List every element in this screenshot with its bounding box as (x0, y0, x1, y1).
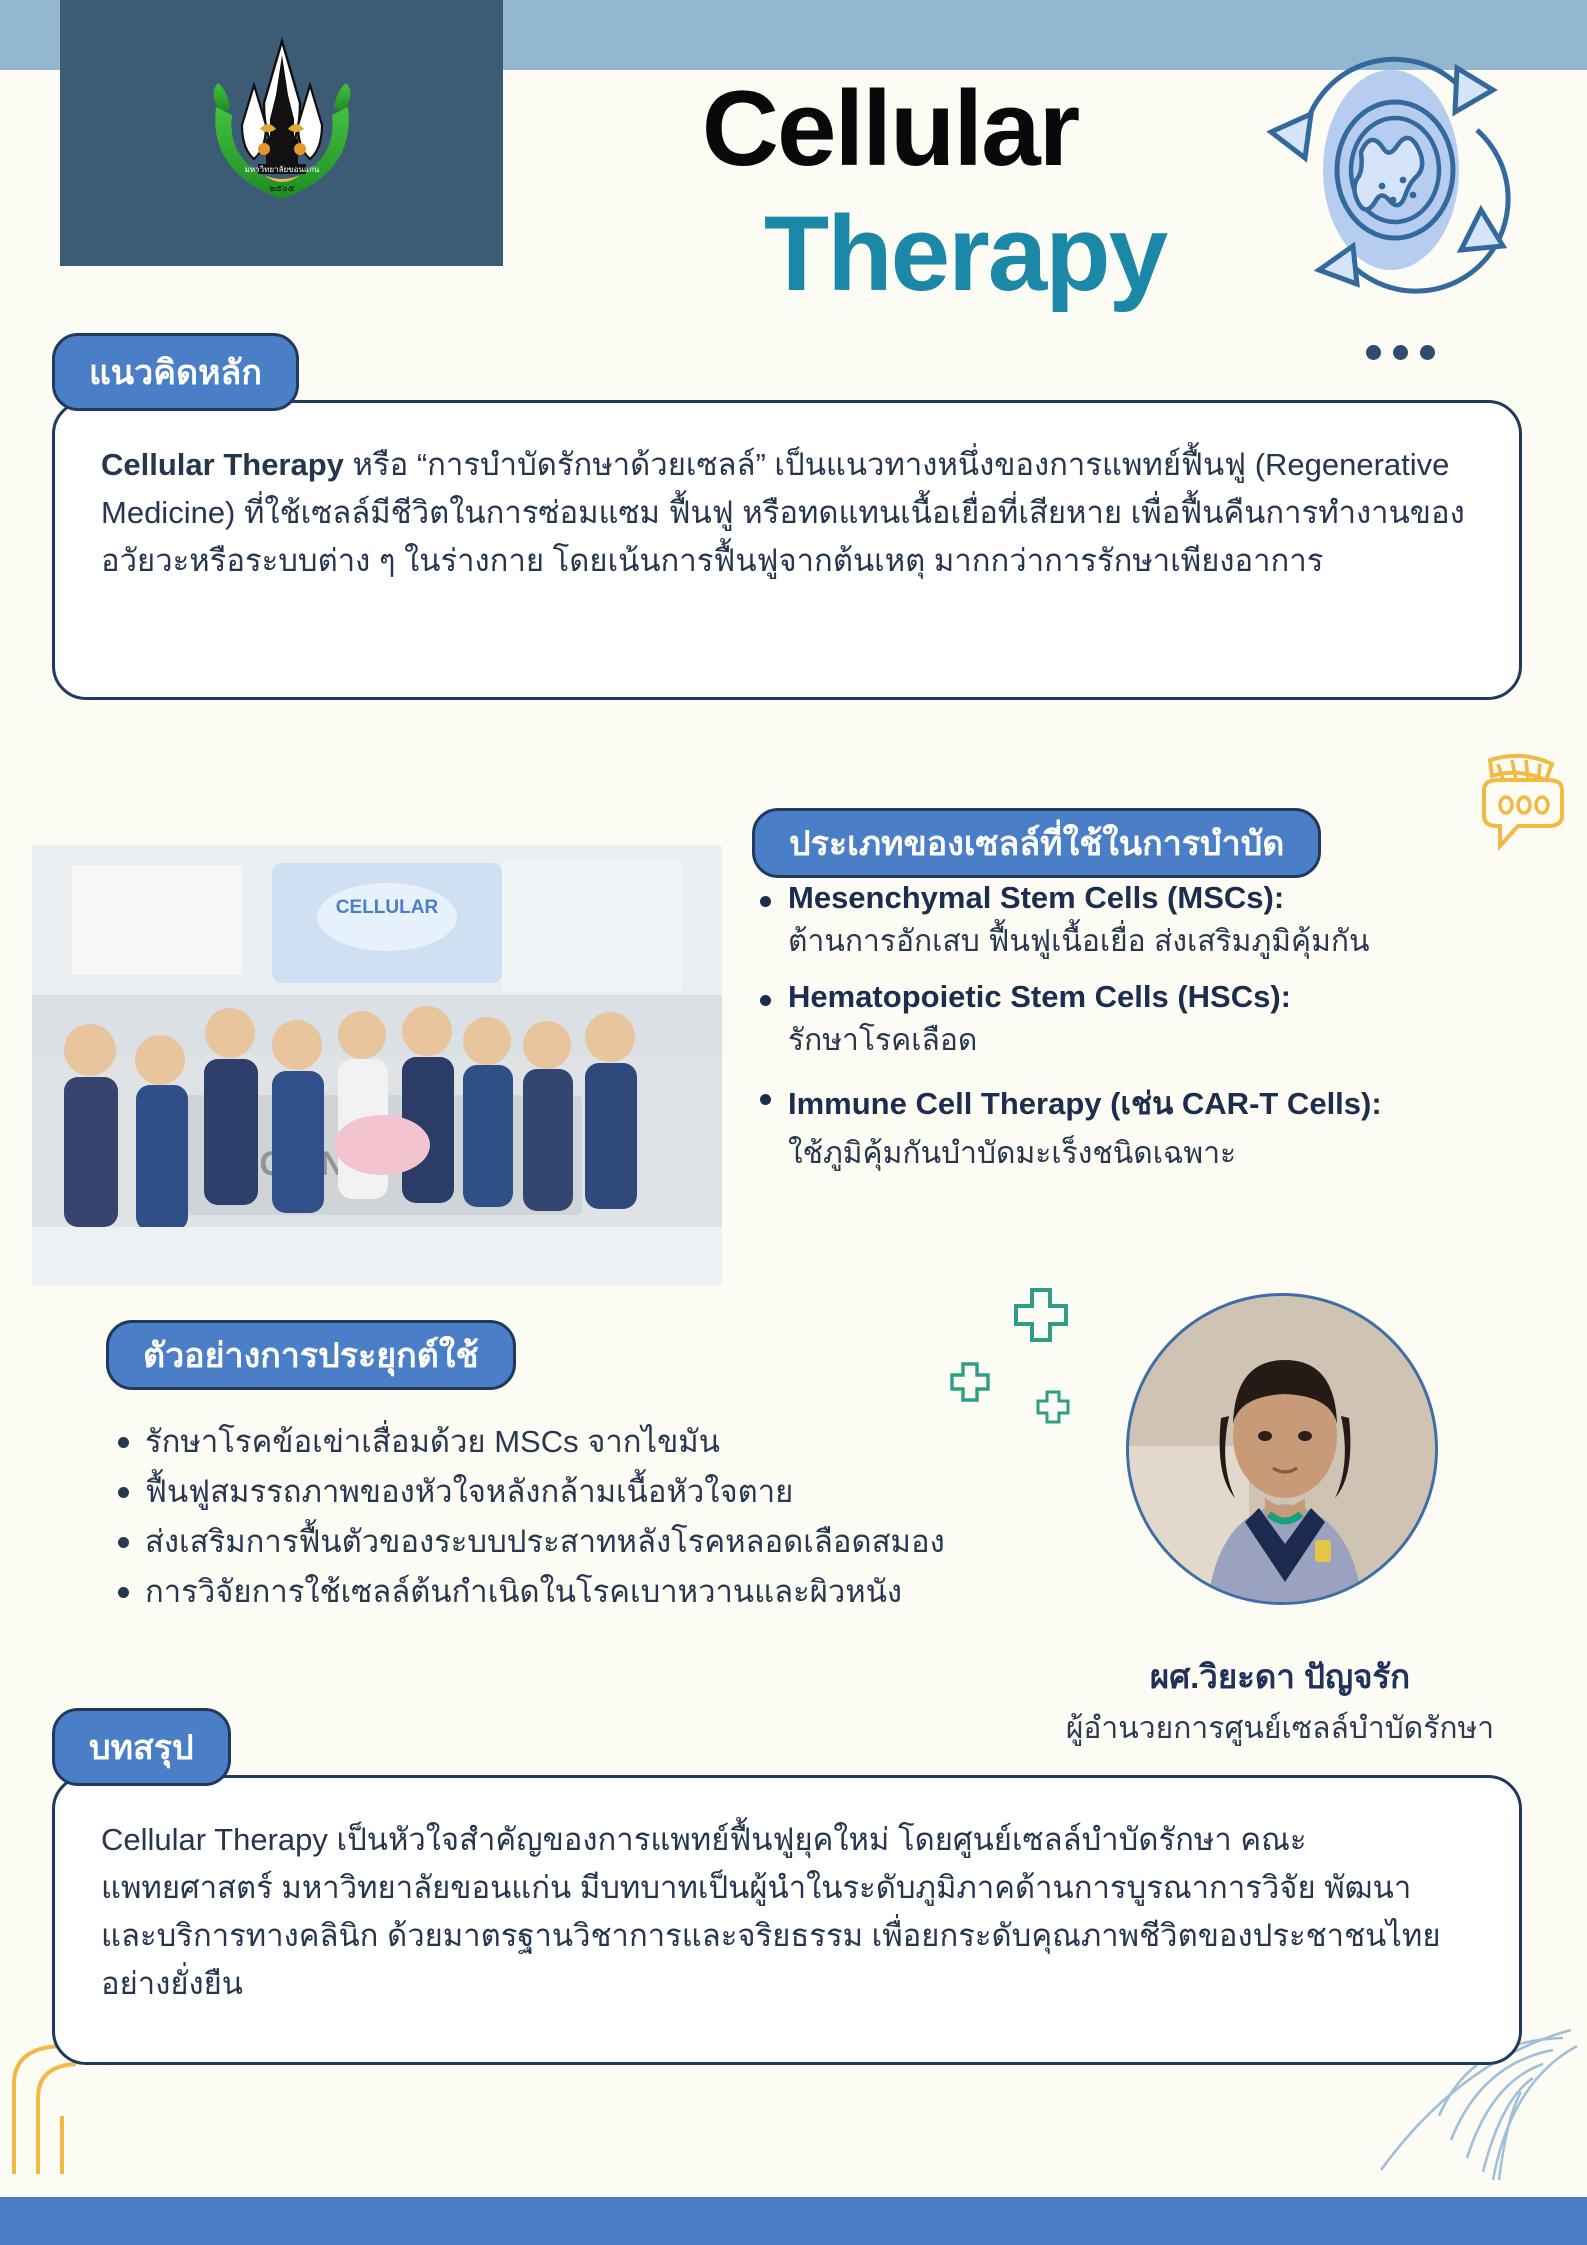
conclusion-card: Cellular Therapy เป็นหัวใจสำคัญของการแพท… (52, 1775, 1522, 2065)
list-item: ส่งเสริมการฟื้นตัวของระบบประสาทหลังโรคหล… (118, 1520, 1068, 1564)
clinic-team-photo: CELLULAR CLINIC (32, 845, 722, 1285)
cell-type-heading: Immune Cell Therapy (เช่น CAR-T Cells): (760, 1078, 1560, 1128)
section-pill-cell-types: ประเภทของเซลล์ที่ใช้ในการบำบัด (752, 808, 1321, 878)
application-text: ส่งเสริมการฟื้นตัวของระบบประสาทหลังโรคหล… (145, 1520, 945, 1564)
section-pill-concept: แนวคิดหลัก (52, 333, 299, 411)
list-item: การวิจัยการใช้เซลล์ต้นกำเนิดในโรคเบาหวาน… (118, 1570, 1068, 1614)
bullet-dot-icon (118, 1487, 129, 1498)
doctor-portrait-avatar (1126, 1293, 1438, 1605)
applications-list: รักษาโรคข้อเข่าเสื่อมด้วย MSCs จากไขมัน … (118, 1420, 1068, 1620)
application-text: การวิจัยการใช้เซลล์ต้นกำเนิดในโรคเบาหวาน… (145, 1570, 902, 1614)
bullet-dot-icon (760, 995, 771, 1006)
bullet-dot-icon (118, 1587, 129, 1598)
bullet-dot-icon (760, 896, 771, 907)
section-pill-applications: ตัวอย่างการประยุกต์ใช้ (106, 1320, 516, 1390)
khon-kaen-university-logo-icon: มหาวิทยาลัยขอนแก่น ๒๕๐๕ คณะแพทยศาสตร์ (182, 33, 382, 233)
application-text: รักษาโรคข้อเข่าเสื่อมด้วย MSCs จากไขมัน (145, 1420, 720, 1464)
conclusion-text: Cellular Therapy เป็นหัวใจสำคัญของการแพท… (55, 1778, 1519, 2046)
cell-type-heading: Mesenchymal Stem Cells (MSCs): (760, 880, 1560, 916)
title-line-cellular: Cellular (520, 75, 1260, 182)
list-item: Hematopoietic Stem Cells (HSCs): รักษาโร… (760, 979, 1560, 1064)
list-item: Mesenchymal Stem Cells (MSCs): ต้านการอั… (760, 880, 1560, 965)
cell-types-list: Mesenchymal Stem Cells (MSCs): ต้านการอั… (760, 880, 1560, 1191)
section-pill-conclusion: บทสรุป (52, 1708, 231, 1786)
list-item: ฟื้นฟูสมรรถภาพของหัวใจหลังกล้ามเนื้อหัวใ… (118, 1470, 1068, 1514)
doctor-caption: ผศ.วิยะดา ปัญจรัก ผู้อำนวยการศูนย์เซลล์บ… (1000, 1650, 1560, 1752)
list-item: Immune Cell Therapy (เช่น CAR-T Cells): … (760, 1078, 1560, 1177)
cell-type-name: Mesenchymal Stem Cells (MSCs): (788, 880, 1284, 916)
doctor-role: ผู้อำนวยการศูนย์เซลล์บำบัดรักษา (1000, 1705, 1560, 1752)
decorative-dots (1366, 345, 1435, 360)
logo-year-text: ๒๕๐๕ (269, 183, 294, 193)
cell-type-name: Hematopoietic Stem Cells (HSCs): (788, 979, 1291, 1015)
concept-lead-bold: Cellular Therapy (101, 447, 344, 482)
concept-card: Cellular Therapy หรือ “การบำบัดรักษาด้วย… (52, 400, 1522, 700)
application-text: ฟื้นฟูสมรรถภาพของหัวใจหลังกล้ามเนื้อหัวใ… (145, 1470, 793, 1514)
bullet-dot-icon (760, 1094, 771, 1105)
bullet-dot-icon (118, 1437, 129, 1448)
cell-type-desc: ต้านการอักเสบ ฟื้นฟูเนื้อเยื่อ ส่งเสริมภ… (760, 918, 1560, 965)
cell-regeneration-icon (1245, 20, 1525, 310)
title-line-therapy: Therapy (520, 200, 1260, 307)
cell-type-desc: ใช้ภูมิคุ้มกันบำบัดมะเร็งชนิดเฉพาะ (760, 1130, 1560, 1177)
cell-type-heading: Hematopoietic Stem Cells (HSCs): (760, 979, 1560, 1015)
medical-cross-icon (948, 1360, 992, 1409)
list-item: รักษาโรคข้อเข่าเสื่อมด้วย MSCs จากไขมัน (118, 1420, 1068, 1464)
doctor-name: ผศ.วิยะดา ปัญจรัก (1000, 1650, 1560, 1703)
university-logo-panel: มหาวิทยาลัยขอนแก่น ๒๕๐๕ คณะแพทยศาสตร์ (60, 0, 503, 266)
poster-title: Cellular Therapy (520, 75, 1260, 307)
speech-bubble-icon (1468, 750, 1578, 875)
bullet-dot-icon (118, 1537, 129, 1548)
bottom-banner-band (0, 2197, 1587, 2245)
logo-university-text: มหาวิทยาลัยขอนแก่น (244, 165, 319, 174)
concept-text: Cellular Therapy หรือ “การบำบัดรักษาด้วย… (55, 403, 1519, 623)
medical-cross-icon (1010, 1284, 1072, 1351)
photo-wall-text: CELLULAR (336, 897, 439, 918)
cell-type-desc: รักษาโรคเลือด (760, 1017, 1560, 1064)
cell-type-name: Immune Cell Therapy (เช่น CAR-T Cells): (788, 1078, 1382, 1128)
